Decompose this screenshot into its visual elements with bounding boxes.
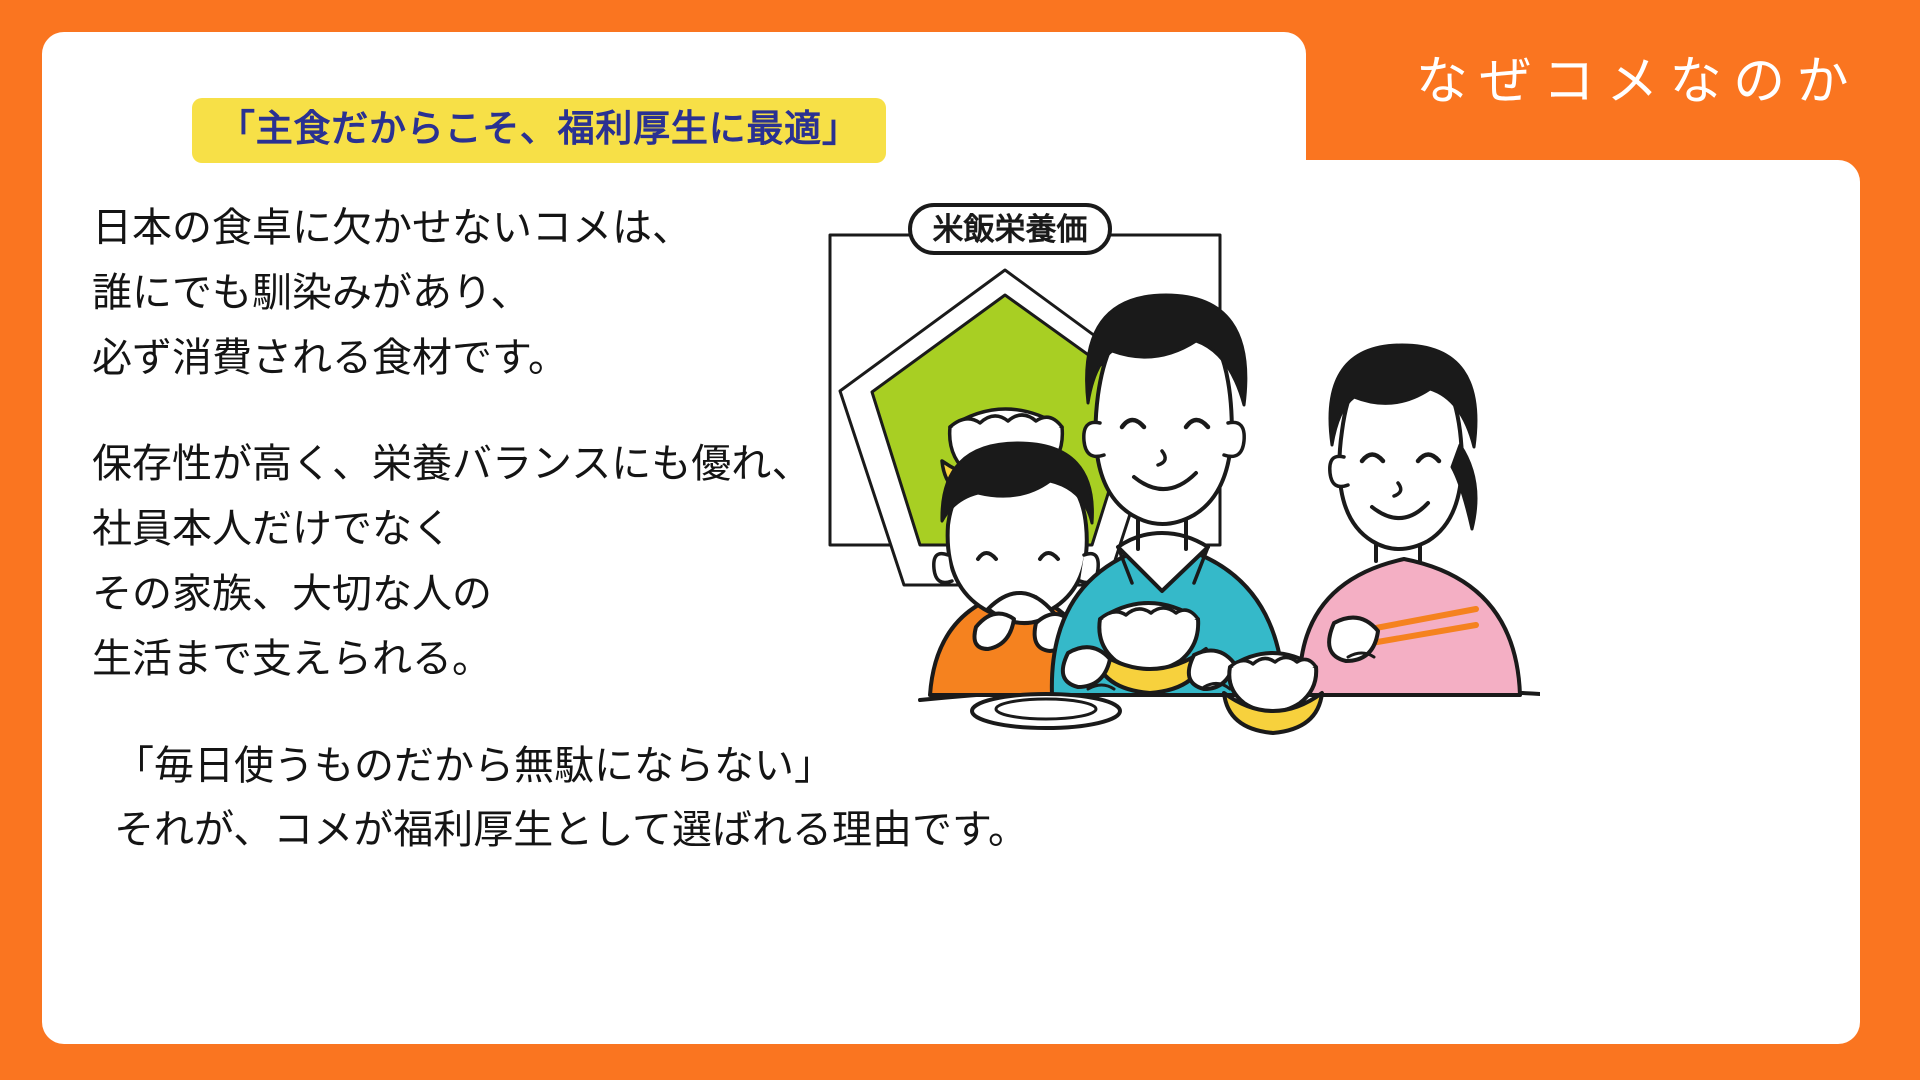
table-rice-bowl <box>1224 653 1322 733</box>
family-rice-illustration: 米飯栄養価 <box>800 195 1540 765</box>
adult-right-figure <box>1300 345 1520 695</box>
headline-banner: 「主食だからこそ、福利厚生に最適」 <box>192 98 886 163</box>
section-header-label: なぜコメなのか <box>1416 56 1860 108</box>
paragraph-3-line-2: それが、コメが福利厚生として選ばれる理由です。 <box>114 798 1042 863</box>
table-plate <box>972 694 1120 728</box>
poster-label-text: 米飯栄養価 <box>933 212 1088 248</box>
slide-root: なぜコメなのか 「主食だからこそ、福利厚生に最適」 日本の食卓に欠かせないコメは… <box>0 0 1920 1080</box>
poster-label-box: 米飯栄養価 <box>910 205 1110 253</box>
headline-banner-text: 「主食だからこそ、福利厚生に最適」 <box>218 107 860 150</box>
